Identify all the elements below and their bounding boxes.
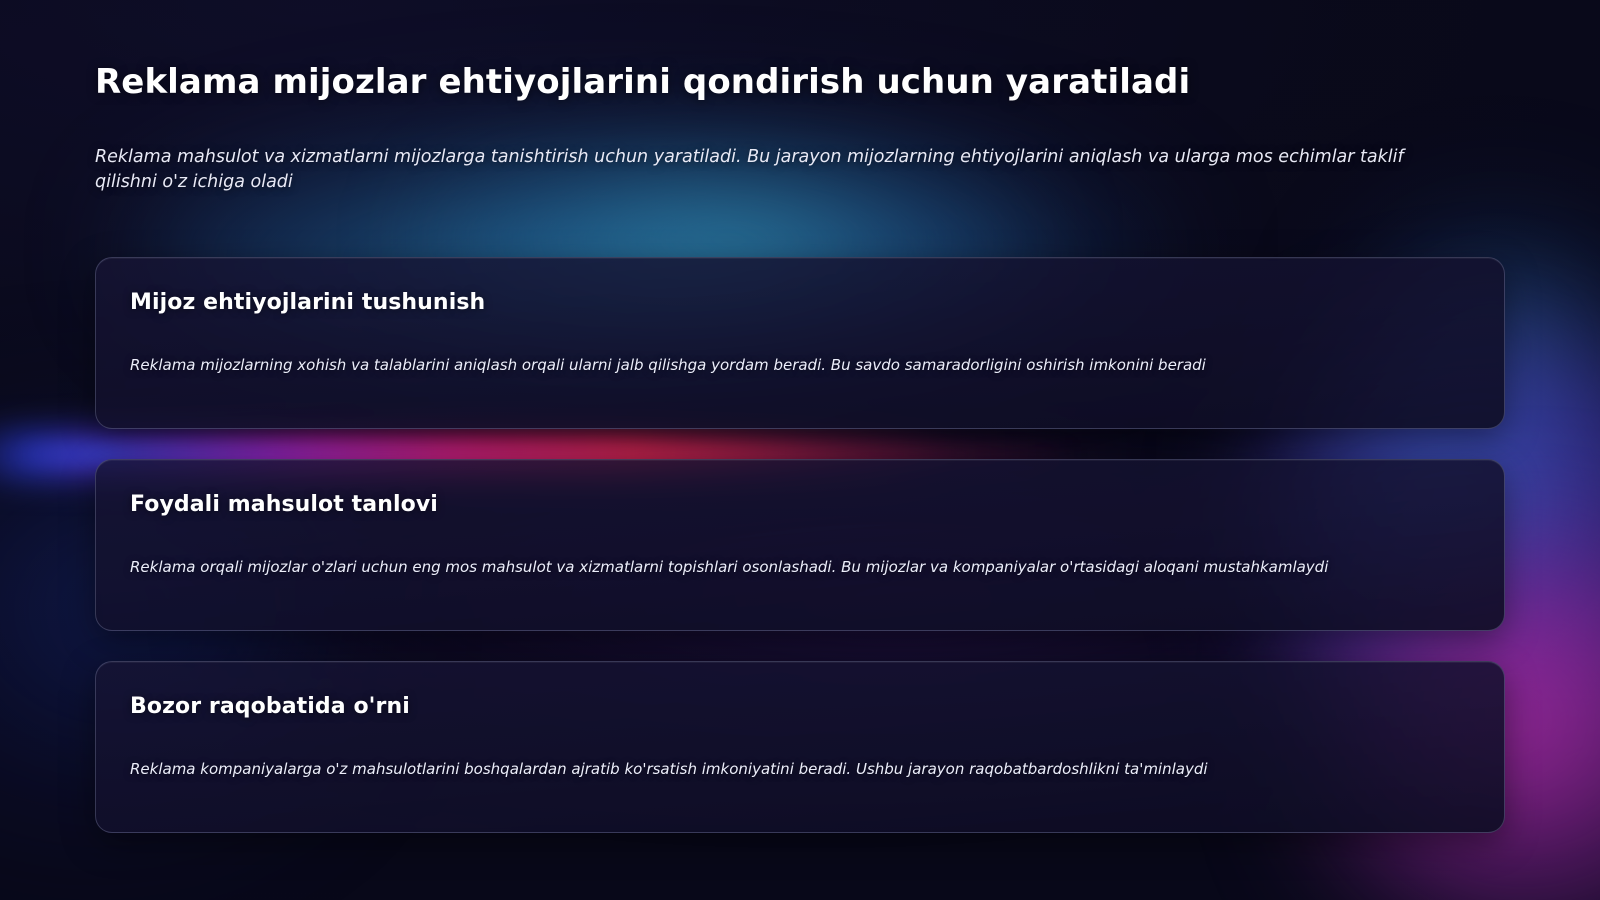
card-title: Foydali mahsulot tanlovi bbox=[130, 492, 1470, 517]
content-container: Reklama mijozlar ehtiyojlarini qondirish… bbox=[0, 0, 1600, 833]
page-title: Reklama mijozlar ehtiyojlarini qondirish… bbox=[95, 62, 1505, 103]
card-inner: Mijoz ehtiyojlarini tushunish Reklama mi… bbox=[96, 290, 1504, 377]
card-title: Mijoz ehtiyojlarini tushunish bbox=[130, 290, 1470, 315]
content-card[interactable]: Foydali mahsulot tanlovi Reklama orqali … bbox=[95, 459, 1505, 631]
card-body: Reklama mijozlarning xohish va talablari… bbox=[130, 355, 1470, 377]
card-body: Reklama kompaniyalarga o'z mahsulotlarin… bbox=[130, 759, 1470, 781]
slide-root: Reklama mijozlar ehtiyojlarini qondirish… bbox=[0, 0, 1600, 900]
content-card[interactable]: Bozor raqobatida o'rni Reklama kompaniya… bbox=[95, 661, 1505, 833]
page-subtitle: Reklama mahsulot va xizmatlarni mijozlar… bbox=[95, 145, 1415, 195]
card-inner: Foydali mahsulot tanlovi Reklama orqali … bbox=[96, 492, 1504, 579]
content-card[interactable]: Mijoz ehtiyojlarini tushunish Reklama mi… bbox=[95, 257, 1505, 429]
card-title: Bozor raqobatida o'rni bbox=[130, 694, 1470, 719]
card-body: Reklama orqali mijozlar o'zlari uchun en… bbox=[130, 557, 1470, 579]
card-list: Mijoz ehtiyojlarini tushunish Reklama mi… bbox=[95, 257, 1505, 833]
card-inner: Bozor raqobatida o'rni Reklama kompaniya… bbox=[96, 694, 1504, 781]
